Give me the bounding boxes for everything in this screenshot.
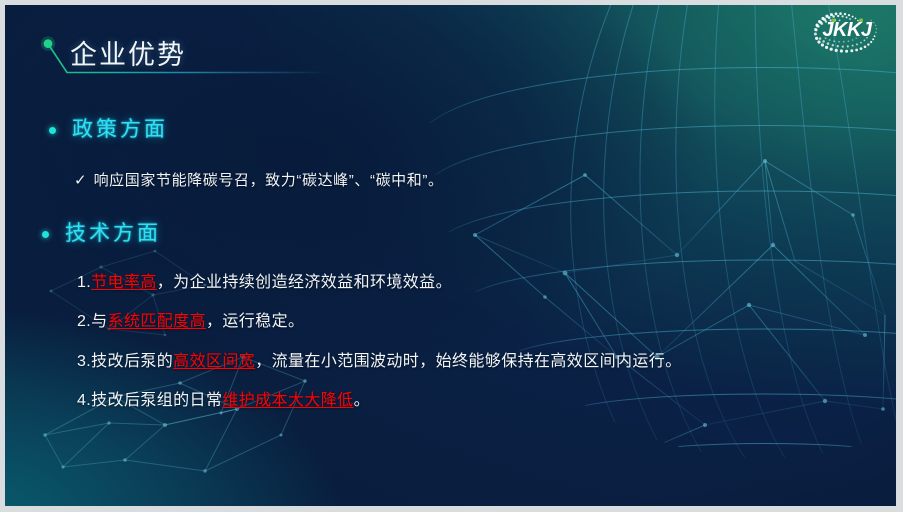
section-heading-policy: 政策方面 bbox=[49, 117, 168, 143]
slide-content: 政策方面 ✓ 响应国家节能降碳号召，致力“碳达峰”、“碳中和”。 技术方面 1.… bbox=[5, 5, 896, 506]
list-item-number: 3. bbox=[77, 353, 91, 370]
check-icon: ✓ bbox=[74, 171, 87, 189]
list-item-number: 4. bbox=[77, 392, 91, 409]
list-item-number: 2. bbox=[77, 313, 91, 330]
policy-check-text: 响应国家节能降碳号召，致力“碳达峰”、“碳中和”。 bbox=[94, 170, 444, 192]
list-item-post: ，运行稳定。 bbox=[206, 313, 304, 330]
list-item-pre: 与 bbox=[91, 313, 107, 330]
policy-check-item: ✓ 响应国家节能降碳号召，致力“碳达峰”、“碳中和”。 bbox=[74, 170, 444, 192]
bullet-dot-icon bbox=[42, 231, 49, 238]
list-item-highlight: 节电率高 bbox=[91, 274, 157, 291]
list-item-3: 3.技改后泵的高效区间宽，流量在小范围波动时，始终能够保持在高效区间内运行。 bbox=[77, 350, 682, 374]
bullet-dot-icon bbox=[49, 127, 56, 134]
list-item-4: 4.技改后泵组的日常维护成本大大降低。 bbox=[77, 389, 370, 413]
slide-frame: JKKJ bbox=[0, 0, 903, 512]
section-heading-technology: 技术方面 bbox=[42, 221, 161, 247]
list-item-highlight: 维护成本大大降低 bbox=[222, 392, 353, 409]
list-item-pre: 技改后泵组的日常 bbox=[91, 392, 222, 409]
section-heading-label: 技术方面 bbox=[65, 221, 161, 247]
list-item-number: 1. bbox=[77, 274, 91, 291]
list-item-post: 。 bbox=[354, 392, 370, 409]
list-item-post: ，为企业持续创造经济效益和环境效益。 bbox=[157, 274, 452, 291]
list-item-pre: 技改后泵的 bbox=[91, 353, 173, 370]
list-item-2: 2.与系统匹配度高，运行稳定。 bbox=[77, 310, 304, 334]
section-heading-label: 政策方面 bbox=[72, 117, 168, 143]
list-item-highlight: 系统匹配度高 bbox=[108, 313, 206, 330]
list-item-post: ，流量在小范围波动时，始终能够保持在高效区间内运行。 bbox=[255, 353, 681, 370]
slide-canvas: JKKJ bbox=[5, 5, 896, 506]
list-item-highlight: 高效区间宽 bbox=[173, 353, 255, 370]
list-item-1: 1.节电率高，为企业持续创造经济效益和环境效益。 bbox=[77, 271, 452, 295]
